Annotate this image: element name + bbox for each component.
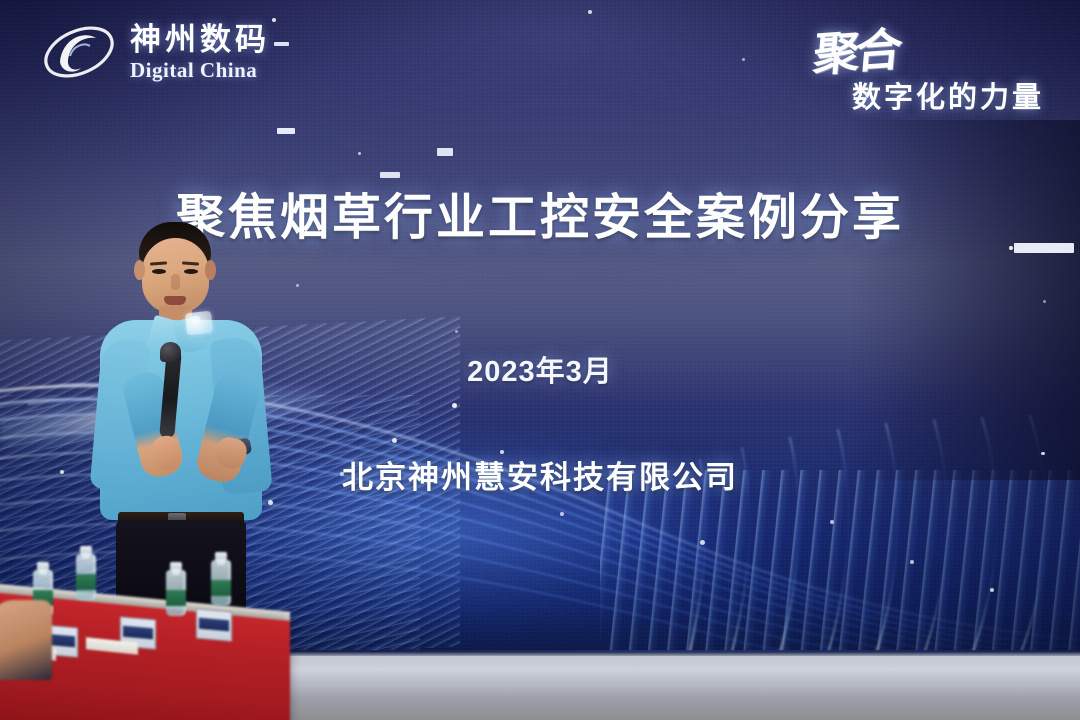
digital-china-logo: 神州数码 Digital China	[40, 18, 270, 86]
placard-name-strip	[123, 626, 153, 640]
bottle-label	[76, 574, 96, 590]
digital-china-swirl-icon	[40, 18, 118, 86]
shirt-chest-logo-icon	[185, 311, 213, 336]
brand-name-cn: 神州数码	[130, 24, 270, 55]
foreground-attendee	[0, 600, 52, 680]
water-bottle	[76, 542, 96, 600]
presenter-eye-right	[184, 269, 198, 274]
presenter-eye-left	[152, 269, 166, 274]
name-placard	[196, 608, 232, 641]
bottle-label	[166, 590, 186, 606]
conference-stage-photo: 神州数码 Digital China 聚合 数字化的力量 聚焦烟草行业工控安全案…	[0, 0, 1080, 720]
juhe-slogan: 数字化的力量	[852, 74, 1044, 116]
brand-name-en: Digital China	[130, 60, 270, 81]
swirl-icon-svg	[40, 18, 118, 86]
microphone-head-icon	[160, 342, 181, 362]
presenter-ear-right	[205, 260, 216, 280]
presenter-ear-left	[134, 260, 145, 280]
water-bottle	[166, 558, 186, 616]
placard-name-strip	[199, 618, 229, 632]
digital-china-wordmark: 神州数码 Digital China	[130, 24, 270, 81]
water-bottle	[211, 548, 231, 606]
presenter-mouth	[164, 296, 186, 305]
presenter-nose	[171, 274, 180, 290]
bottle-label	[211, 580, 231, 596]
juhe-logo: 聚合 数字化的力量	[796, 16, 1058, 116]
